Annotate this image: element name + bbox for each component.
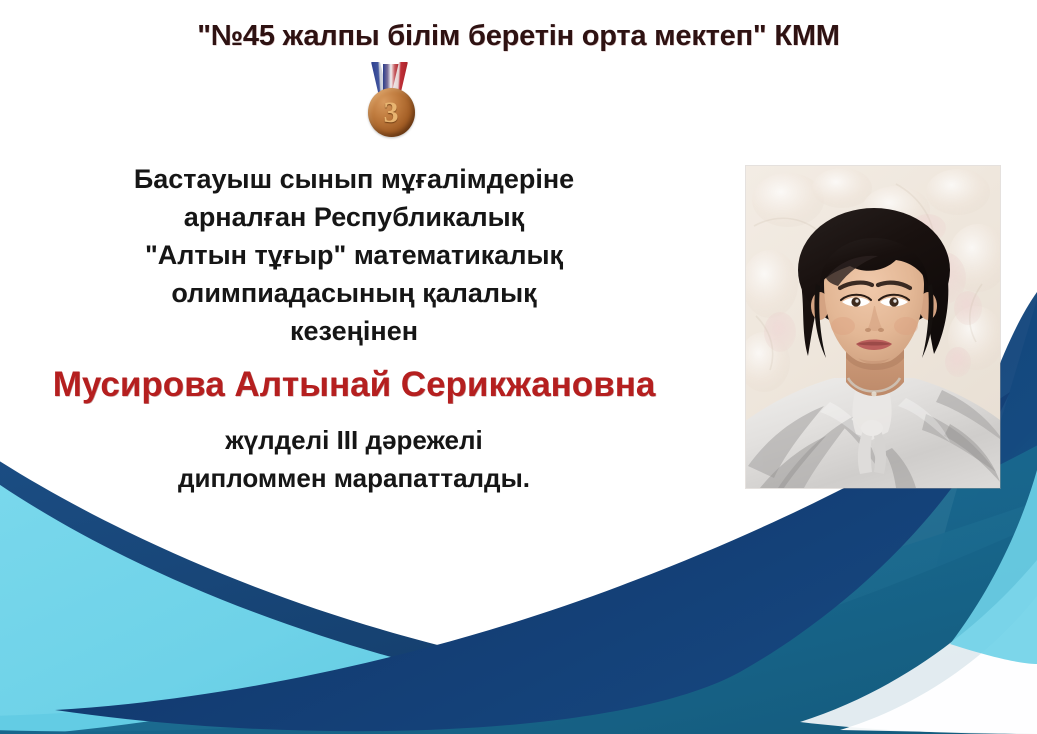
- award-line-1: жүлделі III дәрежелі: [24, 421, 684, 459]
- medal-row: 3: [0, 62, 1037, 143]
- portrait-frame: Портрет: Мусирова Алтынай Серикжановна: [746, 166, 1000, 488]
- body-line-3: "Алтын тұғыр" математикалық: [24, 236, 684, 274]
- body-line-2: арналған Республикалық: [24, 198, 684, 236]
- award-line-2: дипломмен марапатталды.: [24, 459, 684, 497]
- portrait-photo: Портрет: Мусирова Алтынай Серикжановна: [746, 166, 1000, 488]
- medal-place-number: 3: [368, 88, 415, 137]
- body-line-5: кезеңінен: [24, 312, 684, 350]
- body-line-4: олимпиадасының қалалық: [24, 274, 684, 312]
- bronze-medal-icon: 3: [358, 62, 424, 138]
- slide-canvas: "№45 жалпы білім беретін орта мектеп" КМ…: [0, 0, 1037, 734]
- page-title: "№45 жалпы білім беретін орта мектеп" КМ…: [0, 20, 1037, 53]
- honoree-name: Мусирова Алтынай Серикжановна: [24, 363, 684, 407]
- award-text-block: Бастауыш сынып мұғалімдеріне арналған Ре…: [24, 160, 684, 497]
- body-line-1: Бастауыш сынып мұғалімдеріне: [24, 160, 684, 198]
- medal-disc: 3: [368, 88, 415, 137]
